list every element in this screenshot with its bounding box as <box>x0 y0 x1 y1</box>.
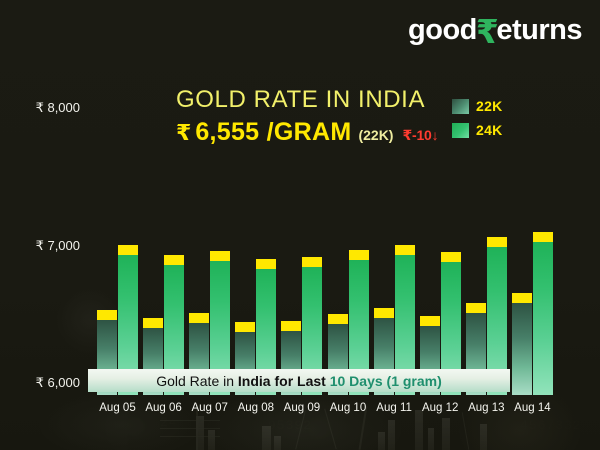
bar-22k-aug-14[interactable] <box>512 293 532 395</box>
bar-group-aug-05[interactable] <box>97 60 138 395</box>
bar-cap-marker <box>420 316 440 326</box>
bar-cap-marker <box>189 313 209 323</box>
caption-part-bold: India for Last <box>238 373 326 389</box>
bar-cap-marker <box>118 245 138 255</box>
bar-cap-marker <box>235 322 255 332</box>
bar-group-aug-07[interactable] <box>189 60 230 395</box>
bar-cap-marker <box>466 303 486 313</box>
bar-cap-marker <box>164 255 184 265</box>
caption-part-regular: Gold Rate in <box>156 373 238 389</box>
chart-caption-text: Gold Rate in India for Last 10 Days (1 g… <box>156 373 442 389</box>
bar-body <box>533 242 553 395</box>
bar-cap-marker <box>395 245 415 255</box>
bar-body <box>512 303 532 395</box>
bar-cap-marker <box>533 232 553 242</box>
caption-part-accent: 10 Days (1 gram) <box>326 373 442 389</box>
bar-group-aug-08[interactable] <box>235 60 276 395</box>
bar-cap-marker <box>256 259 276 269</box>
bar-cap-marker <box>374 308 394 318</box>
bar-group-aug-10[interactable] <box>328 60 369 395</box>
bar-cap-marker <box>349 250 369 260</box>
bar-cap-marker <box>441 252 461 262</box>
bar-cap-marker <box>143 318 163 328</box>
bar-cap-marker <box>281 321 301 331</box>
bar-group-aug-14[interactable] <box>512 60 553 395</box>
bar-cap-marker <box>97 310 117 320</box>
bar-group-aug-11[interactable] <box>374 60 415 395</box>
bar-24k-aug-14[interactable] <box>533 232 553 395</box>
infographic-canvas: 24 95392 4567332 good₹eturns GOLD RATE I… <box>0 0 600 450</box>
bar-cap-marker <box>487 237 507 247</box>
bar-group-aug-09[interactable] <box>281 60 322 395</box>
bar-cap-marker <box>210 251 230 261</box>
bar-group-aug-06[interactable] <box>143 60 184 395</box>
xaxis-tick-aug-14: Aug 14 <box>500 402 565 414</box>
bar-cap-marker <box>328 314 348 324</box>
bar-group-aug-13[interactable] <box>466 60 507 395</box>
bar-cap-marker <box>302 257 322 267</box>
bar-group-aug-12[interactable] <box>420 60 461 395</box>
chart-caption-bar: Gold Rate in India for Last 10 Days (1 g… <box>88 369 510 392</box>
bar-cap-marker <box>512 293 532 303</box>
